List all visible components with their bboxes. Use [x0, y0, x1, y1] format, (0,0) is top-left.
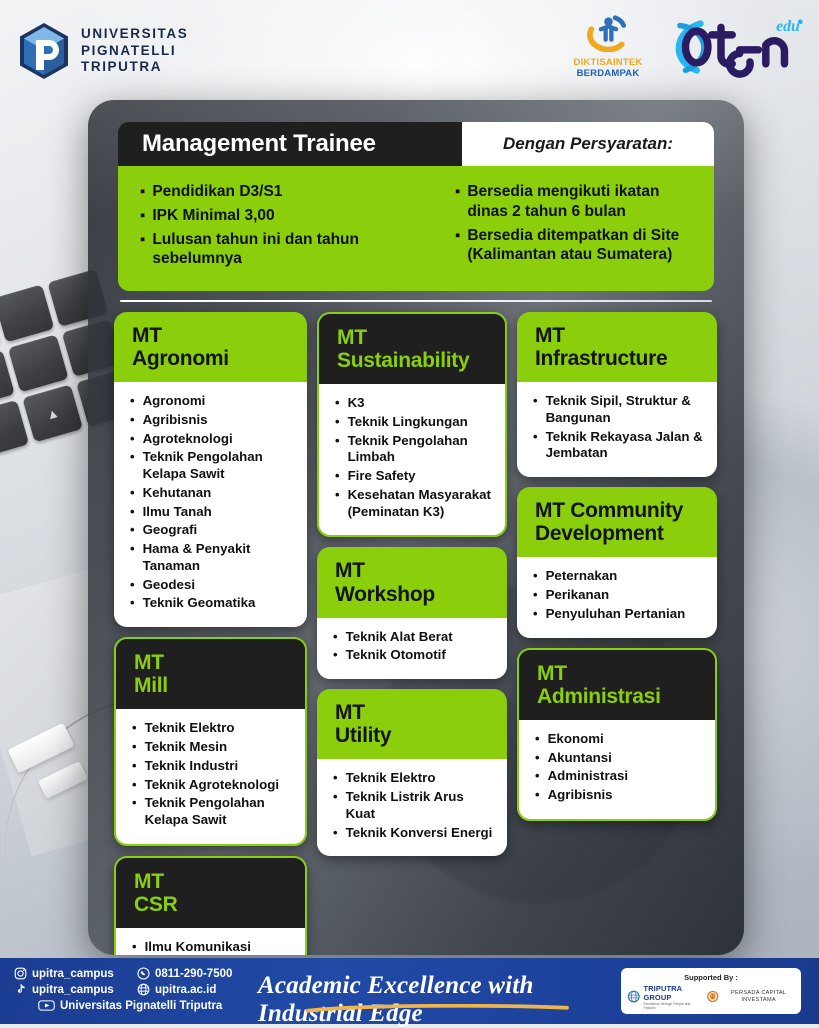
program-major-list: •Ilmu Komunikasi•Ilmu Hukum•Hukum•Keseja…: [128, 939, 293, 955]
program-major-label: Teknik Elektro: [145, 720, 235, 737]
bullet-marker: •: [533, 568, 538, 585]
requirements-left-column: ▪Pendidikan D3/S1▪IPK Minimal 3,00▪Lulus…: [140, 182, 445, 273]
program-major-label: Teknik Elektro: [346, 770, 436, 787]
bullet-marker: •: [535, 750, 540, 767]
globe-icon: [137, 983, 150, 996]
program-major-label: Ilmu Tanah: [143, 504, 212, 521]
bullet-marker: •: [535, 787, 540, 804]
program-column: MTSustainability•K3•Teknik Lingkungan•Te…: [317, 312, 507, 856]
bullet-marker: •: [335, 395, 340, 412]
program-card-title: MTMill: [116, 639, 305, 709]
program-major-label: Agribisnis: [548, 787, 613, 804]
poster-header: UNIVERSITAS PIGNATELLI TRIPUTRA DIKTISAI…: [0, 0, 819, 98]
program-card-mt-administrasi: MTAdministrasi•Ekonomi•Akuntansi•Adminis…: [517, 648, 717, 821]
bullet-marker: •: [132, 777, 137, 794]
tiktok-icon: [14, 983, 27, 996]
bullet-marker: •: [132, 739, 137, 756]
bullet-marker: •: [132, 758, 137, 775]
program-major-item: •Teknik Elektro: [329, 770, 495, 787]
bullet-marker: •: [335, 487, 340, 521]
program-major-item: •Teknik Sipil, Struktur & Bangunan: [529, 393, 705, 427]
program-major-list: •Teknik Elektro•Teknik Listrik Arus Kuat…: [329, 770, 495, 841]
program-major-item: •Teknik Elektro: [128, 720, 293, 737]
bullet-marker: •: [333, 647, 338, 664]
contact-whatsapp-label: 0811-290-7500: [155, 968, 232, 980]
program-card-body: •Teknik Elektro•Teknik Listrik Arus Kuat…: [317, 759, 507, 856]
program-card-mt-community-development: MT CommunityDevelopment•Peternakan•Perik…: [517, 487, 717, 637]
program-card-title: MTInfrastructure: [517, 312, 717, 382]
bullet-marker: •: [130, 504, 135, 521]
supported-by-label: Supported By :: [684, 973, 738, 982]
program-major-label: Teknik Otomotif: [346, 647, 446, 664]
program-major-label: Teknik Konversi Energi: [346, 825, 493, 842]
program-major-label: Teknik Industri: [145, 758, 239, 775]
program-major-item: •Kehutanan: [126, 485, 295, 502]
program-major-label: Teknik Mesin: [145, 739, 228, 756]
bullet-marker: •: [132, 795, 137, 829]
bullet-marker: •: [333, 770, 338, 787]
program-major-item: •Teknik Geomatika: [126, 595, 295, 612]
program-card-mt-sustainability: MTSustainability•K3•Teknik Lingkungan•Te…: [317, 312, 507, 537]
program-major-list: •K3•Teknik Lingkungan•Teknik Pengolahan …: [331, 395, 493, 520]
program-major-label: Administrasi: [548, 768, 629, 785]
program-major-label: Geodesi: [143, 577, 195, 594]
program-major-item: •Teknik Pengolahan Kelapa Sawit: [126, 449, 295, 483]
diktisaintek-figure-icon: [580, 14, 637, 52]
program-columns: MTAgronomi•Agronomi•Agribisnis•Agrotekno…: [114, 312, 718, 955]
program-card-title-line2: Infrastructure: [535, 347, 701, 370]
program-major-label: Fire Safety: [348, 468, 416, 485]
program-major-label: Teknik Listrik Arus Kuat: [346, 789, 495, 823]
program-major-label: Peternakan: [546, 568, 618, 585]
program-major-item: •Fire Safety: [331, 468, 493, 485]
main-panel: Management Trainee Dengan Persyaratan: ▪…: [88, 100, 744, 955]
requirement-right-text: Bersedia mengikuti ikatan dinas 2 tahun …: [467, 182, 704, 222]
bullet-marker: •: [533, 606, 538, 623]
program-major-label: Teknik Alat Berat: [346, 629, 453, 646]
bullet-marker: •: [130, 522, 135, 539]
bullet-marker: •: [132, 720, 137, 737]
contact-website[interactable]: upitra.ac.id: [137, 983, 216, 996]
program-major-item: •Ekonomi: [531, 731, 703, 748]
program-major-item: •Agroteknologi: [126, 431, 295, 448]
pignatelli-hexagon-logo-icon: [18, 22, 70, 80]
program-card-body: •Teknik Sipil, Struktur & Bangunan•Tekni…: [517, 382, 717, 477]
program-card-title: MTAdministrasi: [519, 650, 715, 720]
program-card-title-line2: Development: [535, 522, 701, 545]
program-major-item: •Perikanan: [529, 587, 705, 604]
program-major-label: Kesehatan Masyarakat (Peminatan K3): [348, 487, 493, 521]
program-card-title-line2: Workshop: [335, 583, 491, 606]
program-major-label: Teknik Rekayasa Jalan & Jembatan: [546, 429, 705, 463]
program-column: MTAgronomi•Agronomi•Agribisnis•Agrotekno…: [114, 312, 307, 955]
program-column: MTInfrastructure•Teknik Sipil, Struktur …: [517, 312, 717, 821]
bullet-marker: •: [130, 541, 135, 575]
section-divider: [120, 300, 712, 302]
contact-instagram[interactable]: upitra_campus: [14, 967, 119, 980]
program-card-title-line1: MT: [535, 324, 701, 347]
youtube-icon: [38, 999, 55, 1012]
whatsapp-icon: [137, 967, 150, 980]
bullet-marker: ▪: [140, 182, 145, 202]
program-major-item: •Administrasi: [531, 768, 703, 785]
triputra-globe-icon: [627, 988, 640, 1005]
program-major-item: •Agribisnis: [531, 787, 703, 804]
program-card-title-line1: MT: [537, 662, 699, 685]
contact-youtube[interactable]: Universitas Pignatelli Triputra: [38, 999, 222, 1012]
contact-tiktok[interactable]: upitra_campus: [14, 983, 119, 996]
program-major-label: Ilmu Komunikasi: [145, 939, 251, 955]
program-major-item: •Teknik Lingkungan: [331, 414, 493, 431]
contact-whatsapp[interactable]: 0811-290-7500: [137, 967, 232, 980]
supported-by-box: Supported By : TRIPUTRA GROUP Excellence…: [621, 968, 801, 1014]
tagline: Academic Excellence with Industrial Edge: [258, 972, 618, 1028]
program-card-title-line1: MT: [335, 559, 491, 582]
program-card-mt-workshop: MTWorkshop•Teknik Alat Berat•Teknik Otom…: [317, 547, 507, 679]
diktisaintek-line1: DIKTISAINTEK: [565, 57, 651, 68]
bullet-marker: ▪: [140, 230, 145, 270]
bullet-marker: •: [535, 731, 540, 748]
bullet-marker: •: [333, 789, 338, 823]
program-card-body: •Peternakan•Perikanan•Penyuluhan Pertani…: [517, 557, 717, 637]
program-major-item: •Geografi: [126, 522, 295, 539]
program-card-body: •Ilmu Komunikasi•Ilmu Hukum•Hukum•Keseja…: [116, 928, 305, 955]
program-card-mt-csr: MTCSR•Ilmu Komunikasi•Ilmu Hukum•Hukum•K…: [114, 856, 307, 955]
program-card-title-line1: MT: [134, 651, 289, 674]
contact-tiktok-label: upitra_campus: [32, 984, 114, 996]
program-card-title: MTCSR: [116, 858, 305, 928]
program-major-item: •Agribisnis: [126, 412, 295, 429]
program-major-item: •Peternakan: [529, 568, 705, 585]
requirement-left-text: Pendidikan D3/S1: [152, 182, 282, 202]
program-major-label: Teknik Lingkungan: [348, 414, 468, 431]
program-major-item: •Ilmu Komunikasi: [128, 939, 293, 955]
program-major-item: •Teknik Listrik Arus Kuat: [329, 789, 495, 823]
program-card-body: •K3•Teknik Lingkungan•Teknik Pengolahan …: [319, 384, 505, 535]
diktisaintek-line2: BERDAMPAK: [565, 68, 651, 79]
requirement-left-item: ▪Pendidikan D3/S1: [140, 182, 445, 202]
requirements-right-column: ▪Bersedia mengikuti ikatan dinas 2 tahun…: [455, 182, 704, 273]
university-logo: UNIVERSITAS PIGNATELLI TRIPUTRA: [18, 22, 188, 80]
program-card-title: MTUtility: [317, 689, 507, 759]
university-name-line3: TRIPUTRA: [81, 59, 188, 75]
program-major-item: •Penyuluhan Pertanian: [529, 606, 705, 623]
bullet-marker: •: [130, 449, 135, 483]
program-major-label: Teknik Sipil, Struktur & Bangunan: [546, 393, 705, 427]
bullet-marker: •: [335, 433, 340, 467]
program-major-label: Teknik Pengolahan Kelapa Sawit: [143, 449, 295, 483]
bullet-marker: •: [535, 768, 540, 785]
program-card-title-line2: Sustainability: [337, 349, 489, 372]
contact-youtube-label: Universitas Pignatelli Triputra: [60, 1000, 222, 1012]
program-major-list: •Teknik Alat Berat•Teknik Otomotif: [329, 629, 495, 665]
program-card-mt-utility: MTUtility•Teknik Elektro•Teknik Listrik …: [317, 689, 507, 856]
bullet-marker: •: [130, 595, 135, 612]
program-card-title-line2: Mill: [134, 674, 289, 697]
program-major-label: Akuntansi: [548, 750, 612, 767]
program-card-title: MTWorkshop: [317, 547, 507, 617]
program-major-label: Teknik Geomatika: [143, 595, 256, 612]
bullet-marker: ▪: [455, 226, 460, 266]
program-major-label: Teknik Pengolahan Limbah: [348, 433, 493, 467]
contact-row-2: upitra_campus upitra.ac.id: [14, 983, 232, 996]
program-major-item: •Teknik Rekayasa Jalan & Jembatan: [529, 429, 705, 463]
persada-capital-name: PERSADA CAPITAL INVESTAMA: [722, 990, 795, 1004]
program-major-label: Agronomi: [143, 393, 206, 410]
svg-text:edu: edu: [776, 18, 800, 35]
bullet-marker: •: [130, 393, 135, 410]
bullet-marker: •: [130, 577, 135, 594]
program-card-title-line2: Agronomi: [132, 347, 291, 370]
program-major-item: •Teknik Pengolahan Limbah: [331, 433, 493, 467]
requirement-right-item: ▪Bersedia mengikuti ikatan dinas 2 tahun…: [455, 182, 704, 222]
bullet-marker: •: [333, 825, 338, 842]
program-card-mt-agronomi: MTAgronomi•Agronomi•Agribisnis•Agrotekno…: [114, 312, 307, 627]
requirement-left-text: Lulusan tahun ini dan tahun sebelumnya: [152, 230, 445, 270]
program-major-label: Agribisnis: [143, 412, 208, 429]
program-major-item: •Kesehatan Masyarakat (Peminatan K3): [331, 487, 493, 521]
bullet-marker: ▪: [455, 182, 460, 222]
program-card-title: MT CommunityDevelopment: [517, 487, 717, 557]
program-card-title-line1: MT Community: [535, 499, 701, 522]
requirements-header: Management Trainee Dengan Persyaratan:: [118, 122, 714, 166]
program-major-item: •Teknik Otomotif: [329, 647, 495, 664]
bullet-marker: •: [335, 414, 340, 431]
bullet-marker: •: [130, 485, 135, 502]
program-major-label: Geografi: [143, 522, 198, 539]
program-card-title-line2: CSR: [134, 893, 289, 916]
requirements-block: Management Trainee Dengan Persyaratan: ▪…: [118, 122, 714, 291]
program-major-item: •Ilmu Tanah: [126, 504, 295, 521]
persada-lion-icon: [706, 988, 719, 1005]
contact-info: upitra_campus 0811-290-7500: [14, 967, 232, 1015]
program-major-label: Teknik Agroteknologi: [145, 777, 279, 794]
oten-edu-logo-icon: edu: [665, 16, 805, 78]
program-major-label: K3: [348, 395, 365, 412]
requirements-body: ▪Pendidikan D3/S1▪IPK Minimal 3,00▪Lulus…: [118, 166, 714, 291]
program-card-title-line1: MT: [134, 870, 289, 893]
program-major-label: Perikanan: [546, 587, 610, 604]
program-major-list: •Teknik Elektro•Teknik Mesin•Teknik Indu…: [128, 720, 293, 829]
requirement-right-item: ▪Bersedia ditempatkan di Site (Kalimanta…: [455, 226, 704, 266]
bullet-marker: •: [335, 468, 340, 485]
bullet-marker: •: [130, 412, 135, 429]
program-major-item: •Teknik Mesin: [128, 739, 293, 756]
program-card-mt-mill: MTMill•Teknik Elektro•Teknik Mesin•Tekni…: [114, 637, 307, 846]
program-major-label: Penyuluhan Pertanian: [546, 606, 686, 623]
triputra-group-logo: TRIPUTRA GROUP Excellence through People…: [627, 984, 698, 1010]
program-card-body: •Teknik Alat Berat•Teknik Otomotif: [317, 618, 507, 680]
requirement-left-item: ▪Lulusan tahun ini dan tahun sebelumnya: [140, 230, 445, 270]
university-name: UNIVERSITAS PIGNATELLI TRIPUTRA: [81, 26, 188, 75]
program-card-title-line2: Utility: [335, 724, 491, 747]
program-major-item: •Teknik Alat Berat: [329, 629, 495, 646]
triputra-group-sub: Excellence through People and Passion: [643, 1002, 697, 1010]
program-major-item: •Geodesi: [126, 577, 295, 594]
program-card-mt-infrastructure: MTInfrastructure•Teknik Sipil, Struktur …: [517, 312, 717, 477]
program-major-list: •Teknik Sipil, Struktur & Bangunan•Tekni…: [529, 393, 705, 462]
poster-title: Management Trainee: [118, 122, 462, 166]
program-major-item: •Agronomi: [126, 393, 295, 410]
instagram-icon: [14, 967, 27, 980]
program-major-list: •Ekonomi•Akuntansi•Administrasi•Agribisn…: [531, 731, 703, 804]
university-name-line2: PIGNATELLI: [81, 43, 188, 59]
program-major-item: •Teknik Industri: [128, 758, 293, 775]
bullet-marker: •: [533, 429, 538, 463]
program-major-item: •Akuntansi: [531, 750, 703, 767]
program-card-title: MTAgronomi: [114, 312, 307, 382]
requirement-right-text: Bersedia ditempatkan di Site (Kalimantan…: [467, 226, 704, 266]
program-card-title-line1: MT: [335, 701, 491, 724]
program-card-body: •Teknik Elektro•Teknik Mesin•Teknik Indu…: [116, 709, 305, 844]
triputra-group-name: TRIPUTRA GROUP: [643, 984, 697, 1002]
program-card-title-line1: MT: [337, 326, 489, 349]
bullet-marker: •: [333, 629, 338, 646]
program-card-title-line1: MT: [132, 324, 291, 347]
program-major-item: •Teknik Konversi Energi: [329, 825, 495, 842]
program-major-label: Kehutanan: [143, 485, 212, 502]
program-major-item: •Teknik Pengolahan Kelapa Sawit: [128, 795, 293, 829]
bullet-marker: •: [533, 587, 538, 604]
partner-logos: DIKTISAINTEK BERDAMPAK edu: [565, 14, 805, 79]
program-major-label: Teknik Pengolahan Kelapa Sawit: [145, 795, 293, 829]
bullet-marker: •: [130, 431, 135, 448]
program-card-body: •Ekonomi•Akuntansi•Administrasi•Agribisn…: [519, 720, 715, 819]
program-major-item: •Teknik Agroteknologi: [128, 777, 293, 794]
tagline-underline-swash: [262, 1004, 614, 1013]
program-major-list: •Agronomi•Agribisnis•Agroteknologi•Tekni…: [126, 393, 295, 612]
program-major-list: •Peternakan•Perikanan•Penyuluhan Pertani…: [529, 568, 705, 622]
contact-website-label: upitra.ac.id: [155, 984, 216, 996]
requirements-subtitle: Dengan Persyaratan:: [462, 122, 714, 166]
program-major-item: •K3: [331, 395, 493, 412]
diktisaintek-logo: DIKTISAINTEK BERDAMPAK: [565, 14, 651, 79]
program-card-title-line2: Administrasi: [537, 685, 699, 708]
bullet-marker: •: [533, 393, 538, 427]
program-major-label: Hama & Penyakit Tanaman: [143, 541, 295, 575]
program-major-item: •Hama & Penyakit Tanaman: [126, 541, 295, 575]
bullet-marker: •: [132, 939, 137, 955]
contact-row-3: Universitas Pignatelli Triputra: [14, 999, 232, 1012]
contact-row-1: upitra_campus 0811-290-7500: [14, 967, 232, 980]
requirement-left-text: IPK Minimal 3,00: [152, 206, 274, 226]
program-card-body: •Agronomi•Agribisnis•Agroteknologi•Tekni…: [114, 382, 307, 627]
university-name-line1: UNIVERSITAS: [81, 26, 188, 42]
poster-footer: upitra_campus 0811-290-7500: [0, 958, 819, 1024]
bullet-marker: ▪: [140, 206, 145, 226]
persada-capital-logo: PERSADA CAPITAL INVESTAMA: [706, 988, 795, 1005]
requirement-left-item: ▪IPK Minimal 3,00: [140, 206, 445, 226]
program-major-label: Agroteknologi: [143, 431, 233, 448]
program-card-title: MTSustainability: [319, 314, 505, 384]
supported-by-logos: TRIPUTRA GROUP Excellence through People…: [627, 984, 795, 1010]
contact-instagram-label: upitra_campus: [32, 968, 114, 980]
program-major-label: Ekonomi: [548, 731, 604, 748]
